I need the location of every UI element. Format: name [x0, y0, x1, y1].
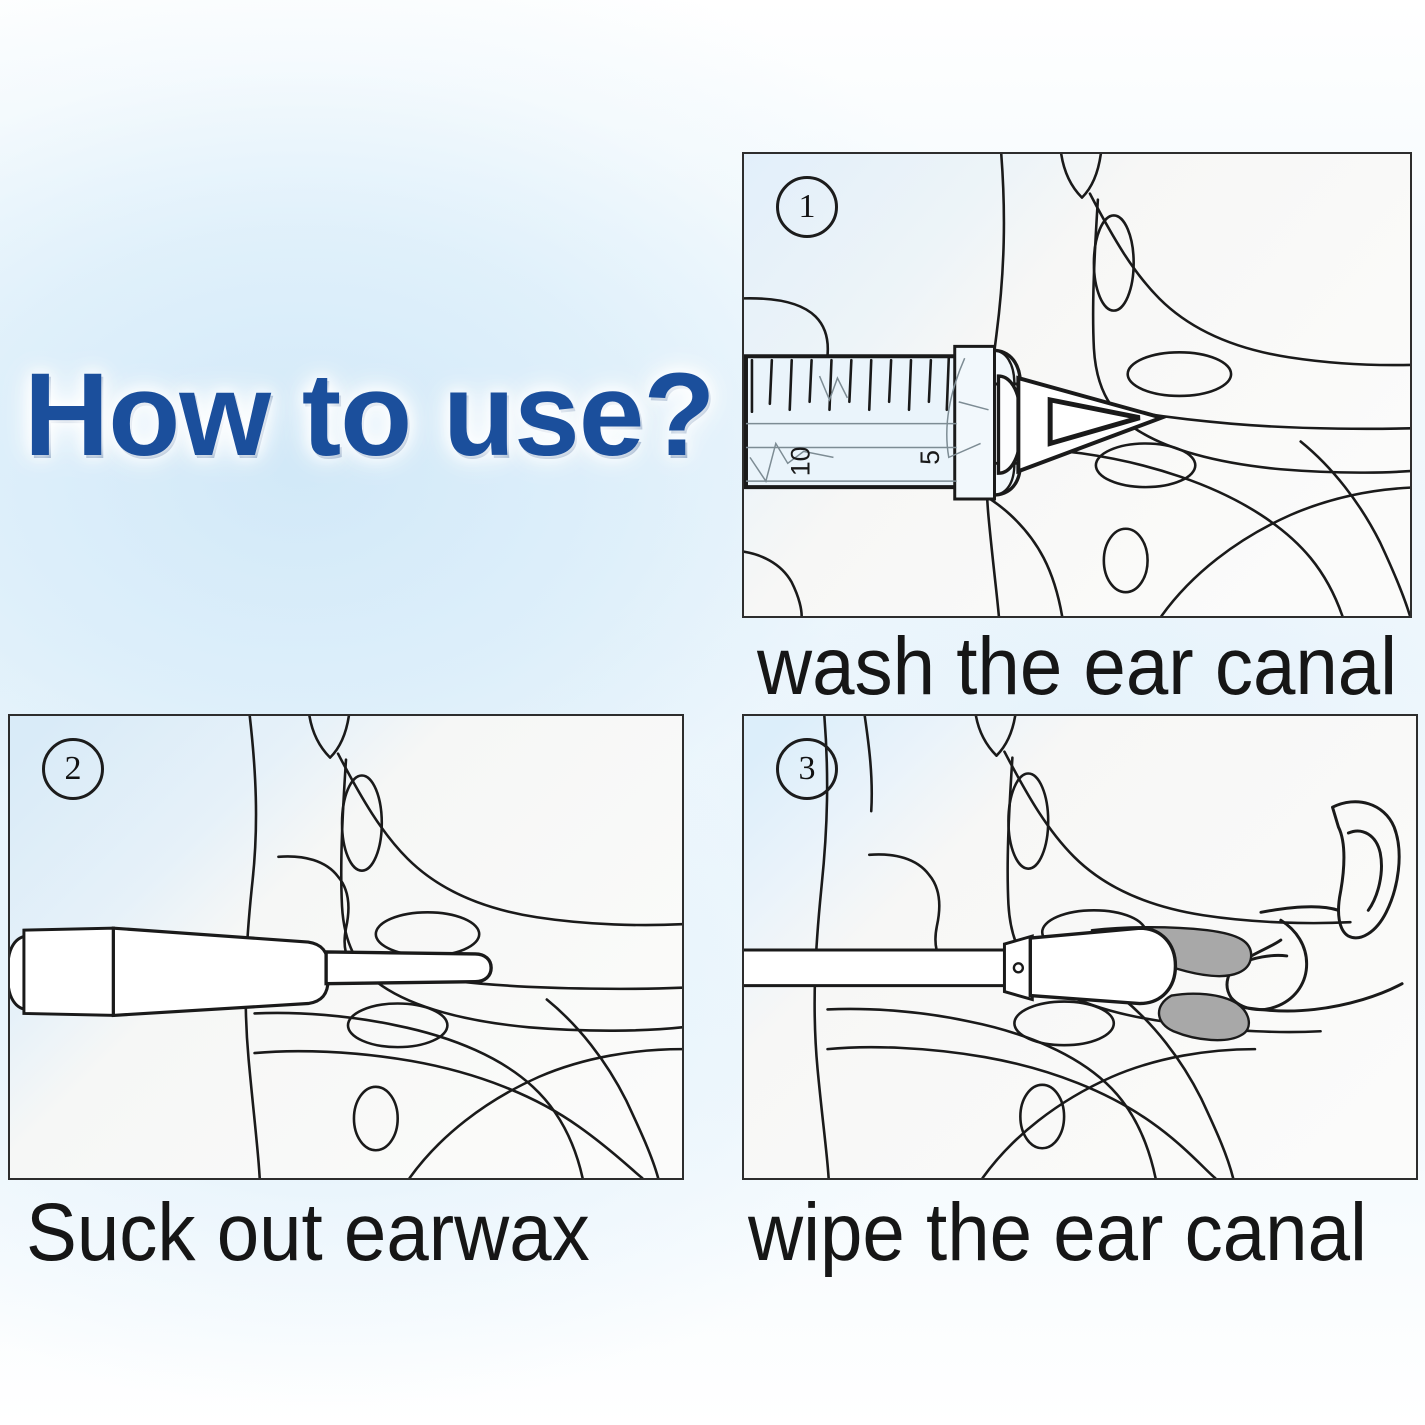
swab-joint-pin [1014, 963, 1023, 972]
swab-shaft [744, 950, 1010, 986]
illustration-wash-ear-canal: 10 5 [744, 154, 1410, 616]
how-to-use-instruction-graphic: How to use? [0, 0, 1425, 1425]
syringe-graduation-10: 10 [786, 446, 816, 476]
illustration-wipe-ear-canal [744, 716, 1416, 1178]
illustration-suck-out-earwax [10, 716, 682, 1178]
syringe-graduation-5: 5 [915, 450, 945, 465]
step-caption-3: wipe the ear canal [748, 1192, 1367, 1274]
swab-tip [1030, 928, 1175, 1003]
step-panel-1: 10 5 [742, 152, 1412, 618]
step-caption-2: Suck out earwax [26, 1192, 590, 1274]
step-number-badge-2: 2 [42, 738, 104, 800]
suction-device-nozzle [326, 952, 491, 984]
syringe-barrel [746, 356, 961, 487]
step-number-badge-3: 3 [776, 738, 838, 800]
step-number-badge-1: 1 [776, 176, 838, 238]
step-caption-1: wash the ear canal [757, 626, 1397, 708]
suction-device-body [113, 928, 328, 1015]
step-panel-2 [8, 714, 684, 1180]
step-panel-3 [742, 714, 1418, 1180]
page-title: How to use? [24, 356, 714, 474]
suction-device-grip [24, 928, 113, 1015]
